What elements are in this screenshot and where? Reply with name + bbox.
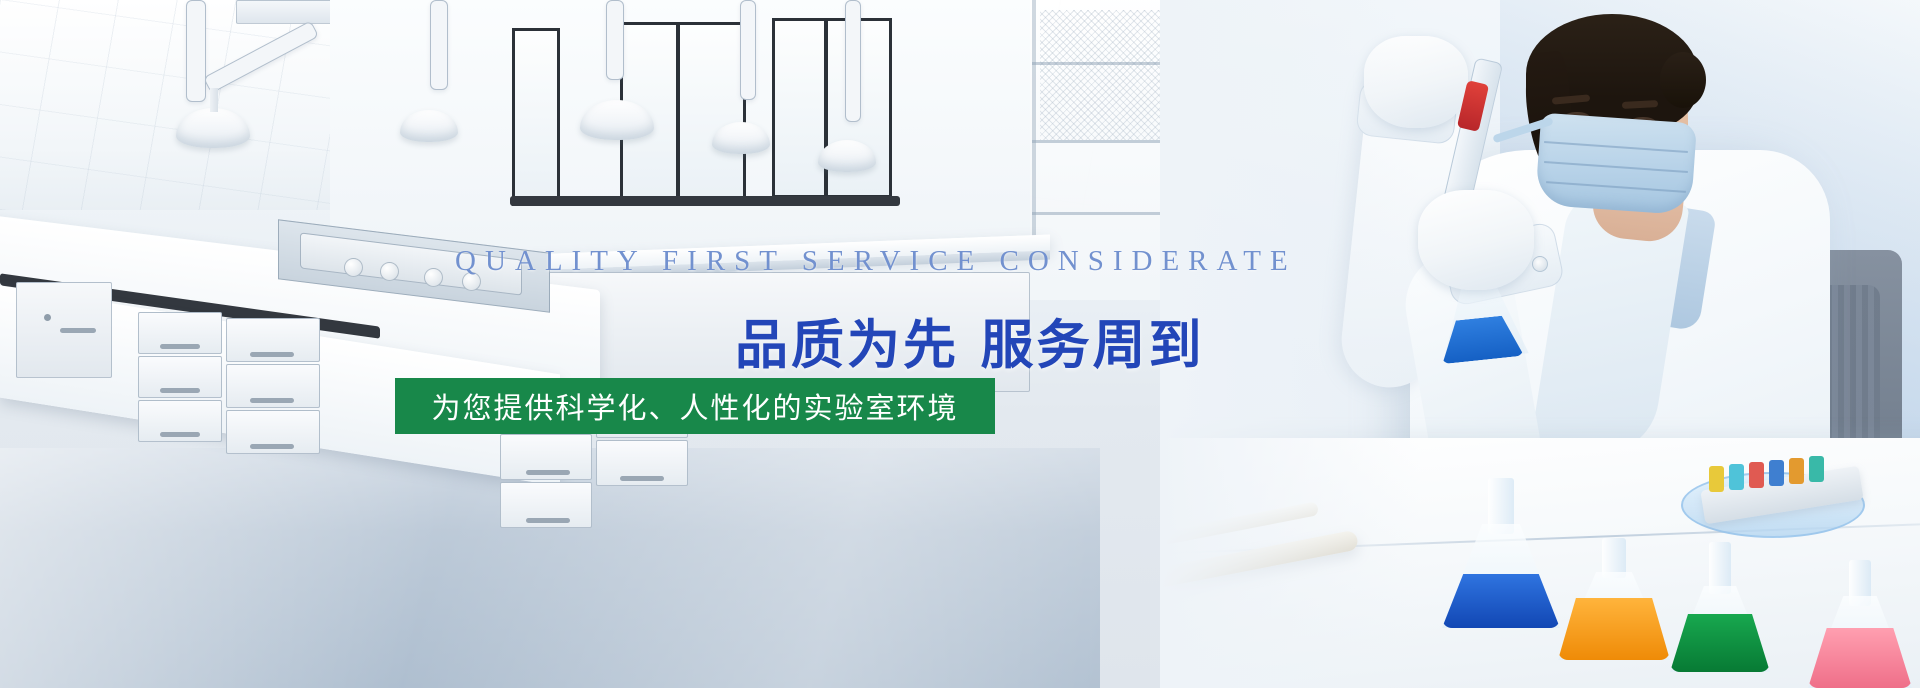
subtitle-banner: 为您提供科学化、人性化的实验室环境 — [395, 378, 995, 434]
headline: 品质为先 服务周到 — [735, 303, 1204, 379]
english-tagline: QUALITY FIRST SERVICE CONSIDERATE — [455, 245, 1297, 278]
lab-promo-banner: QUALITY FIRST SERVICE CONSIDERATE 品质为先 服… — [0, 0, 1920, 688]
subtitle-text: 为您提供科学化、人性化的实验室环境 — [431, 385, 958, 427]
text-overlay: QUALITY FIRST SERVICE CONSIDERATE 品质为先 服… — [0, 0, 1920, 688]
